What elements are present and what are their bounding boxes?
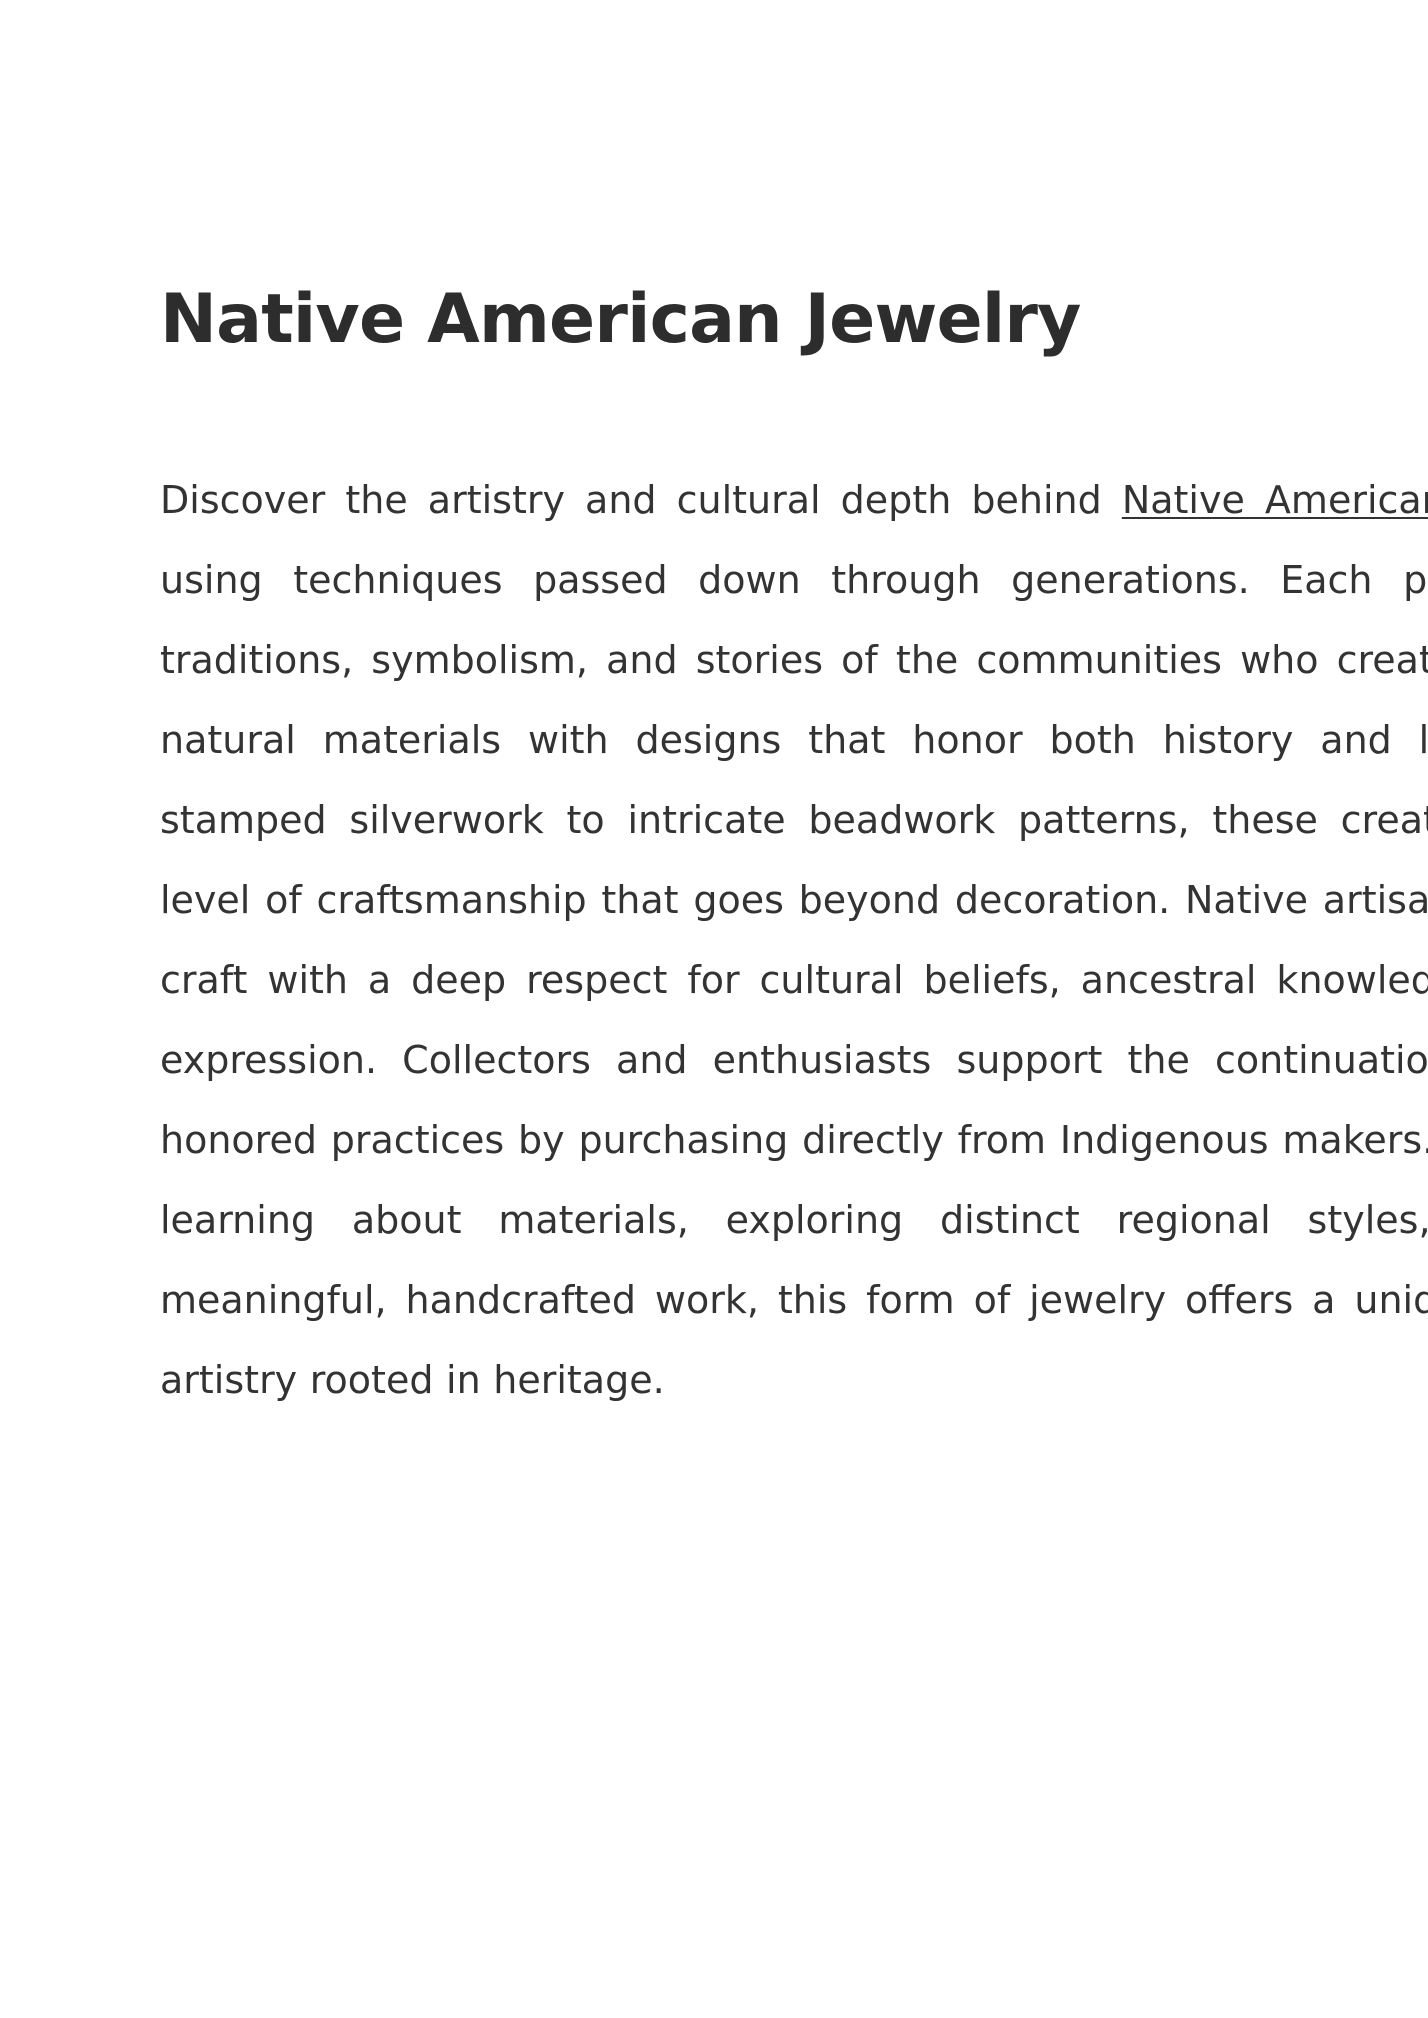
article-paragraph: Discover the artistry and cultural depth… <box>160 460 1428 1420</box>
paragraph-rest-text: , crafted using techniques passed down t… <box>160 478 1428 1402</box>
page-title: Native American Jewelry <box>160 280 1428 360</box>
paragraph-lead-text: Discover the artistry and cultural depth… <box>160 478 1122 522</box>
article-content: Native American Jewelry Discover the art… <box>160 280 1428 1420</box>
document-page: Native American Jewelry Discover the art… <box>0 0 1428 2018</box>
native-american-jewelry-link[interactable]: Native American jewelry <box>1122 478 1428 522</box>
